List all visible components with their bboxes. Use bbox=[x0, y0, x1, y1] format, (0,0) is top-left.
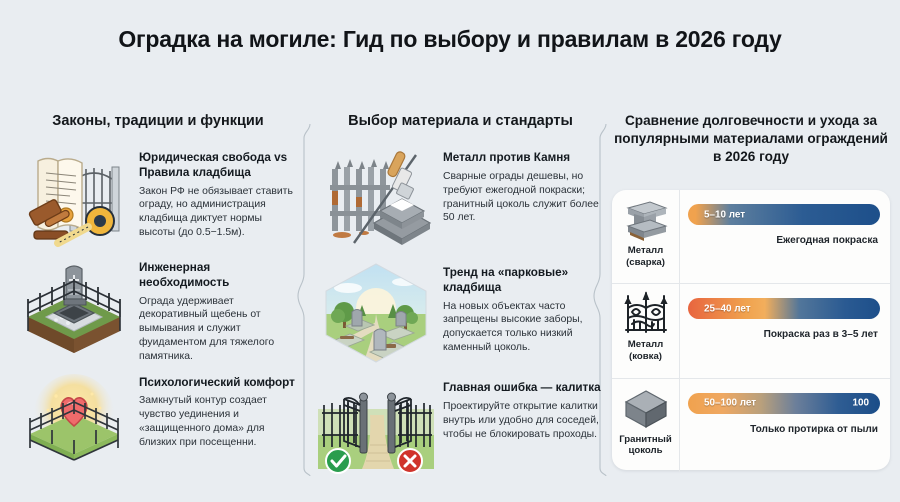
durability-bar: 5–10 лет bbox=[688, 204, 880, 225]
column-laws-traditions: Законы, традиции и функции bbox=[18, 112, 298, 480]
material-label: Металл (ковка) bbox=[612, 339, 679, 362]
row-material-cell: Металл (ковка) bbox=[612, 284, 680, 377]
column-b-heading: Выбор материала и стандарты bbox=[318, 112, 603, 131]
park-cemetery-icon bbox=[318, 260, 434, 366]
material-label: Металл (сварка) bbox=[612, 245, 679, 268]
maintenance-note: Только протирка от пыли bbox=[688, 423, 880, 436]
comparison-heading: Сравнение долговечности и ухода за попул… bbox=[610, 112, 892, 167]
gate-open-check-cross-icon bbox=[318, 375, 434, 481]
item-heading: Главная ошибка — калитка bbox=[443, 381, 603, 396]
infographic-page: Оградка на могиле: Гид по выбору и прави… bbox=[0, 0, 900, 502]
table-row: Металл (ковка) 25–40 лет Покраска раз в … bbox=[612, 283, 890, 377]
i-beam-icon bbox=[622, 198, 670, 242]
bar-value-label: 50–100 лет bbox=[704, 398, 756, 409]
item-body: Закон РФ не обязывает ставить ограду, но… bbox=[139, 185, 298, 240]
fence-paintbrush-stone-icon bbox=[318, 145, 434, 251]
row-bar-cell: 25–40 лет Покраска раз в 3–5 лет bbox=[680, 284, 890, 341]
item-body: Сварные ограды дешевы, но требуют ежегод… bbox=[443, 170, 603, 225]
column-a-heading: Законы, традиции и функции bbox=[18, 112, 298, 131]
list-item: Главная ошибка — калитка Проектируйте от… bbox=[318, 375, 603, 481]
list-item: Инженерная необходимость Ограда удержива… bbox=[18, 255, 298, 364]
column-comparison: Сравнение долговечности и ухода за попул… bbox=[610, 112, 892, 181]
item-heading: Тренд на «парковые» кладбища bbox=[443, 266, 603, 295]
maintenance-note: Покраска раз в 3–5 лет bbox=[688, 328, 880, 341]
durability-bar: 50–100 лет 100 bbox=[688, 393, 880, 414]
page-title: Оградка на могиле: Гид по выбору и прави… bbox=[0, 26, 900, 53]
grave-plot-fence-icon bbox=[18, 255, 130, 359]
wrought-iron-fence-icon bbox=[622, 292, 670, 336]
bar-value-label: 5–10 лет bbox=[704, 209, 745, 220]
scroll-gavel-gate-icon bbox=[18, 145, 130, 249]
granite-block-icon bbox=[622, 387, 670, 431]
table-row: Гранитный цоколь 50–100 лет 100 Только п… bbox=[612, 378, 890, 472]
table-row: Металл (сварка) 5–10 лет Ежегодная покра… bbox=[612, 190, 890, 283]
heart-fence-icon bbox=[18, 370, 130, 474]
row-bar-cell: 5–10 лет Ежегодная покраска bbox=[680, 190, 890, 247]
list-item: Психологический комфорт Замкнутый контур… bbox=[18, 370, 298, 474]
item-body: Проектируйте открытие калитки внутрь или… bbox=[443, 400, 603, 441]
comparison-card: Металл (сварка) 5–10 лет Ежегодная покра… bbox=[612, 190, 890, 470]
column-divider-left bbox=[296, 124, 318, 476]
row-material-cell: Гранитный цоколь bbox=[612, 379, 680, 472]
item-body: Ограда удерживает декоративный щебень от… bbox=[139, 295, 298, 364]
item-heading: Металл против Камня bbox=[443, 151, 603, 166]
column-materials-standards: Выбор материала и стандарты bbox=[318, 112, 603, 490]
list-item: Тренд на «парковые» кладбища На новых об… bbox=[318, 260, 603, 366]
maintenance-note: Ежегодная покраска bbox=[688, 234, 880, 247]
list-item: Металл против Камня Сварные ограды дешев… bbox=[318, 145, 603, 251]
row-material-cell: Металл (сварка) bbox=[612, 190, 680, 283]
item-heading: Юридическая свобода vs Правила кладбища bbox=[139, 151, 298, 180]
item-heading: Психологический комфорт bbox=[139, 376, 298, 391]
item-body: Замкнутый контур создает чувство уединен… bbox=[139, 394, 298, 449]
item-body: На новых объектах часто запрещены высоки… bbox=[443, 300, 603, 355]
material-label: Гранитный цоколь bbox=[612, 434, 679, 457]
bar-end-label: 100 bbox=[853, 398, 869, 409]
row-bar-cell: 50–100 лет 100 Только протирка от пыли bbox=[680, 379, 890, 436]
bar-value-label: 25–40 лет bbox=[704, 303, 751, 314]
item-heading: Инженерная необходимость bbox=[139, 261, 298, 290]
list-item: Юридическая свобода vs Правила кладбища … bbox=[18, 145, 298, 249]
durability-bar: 25–40 лет bbox=[688, 298, 880, 319]
